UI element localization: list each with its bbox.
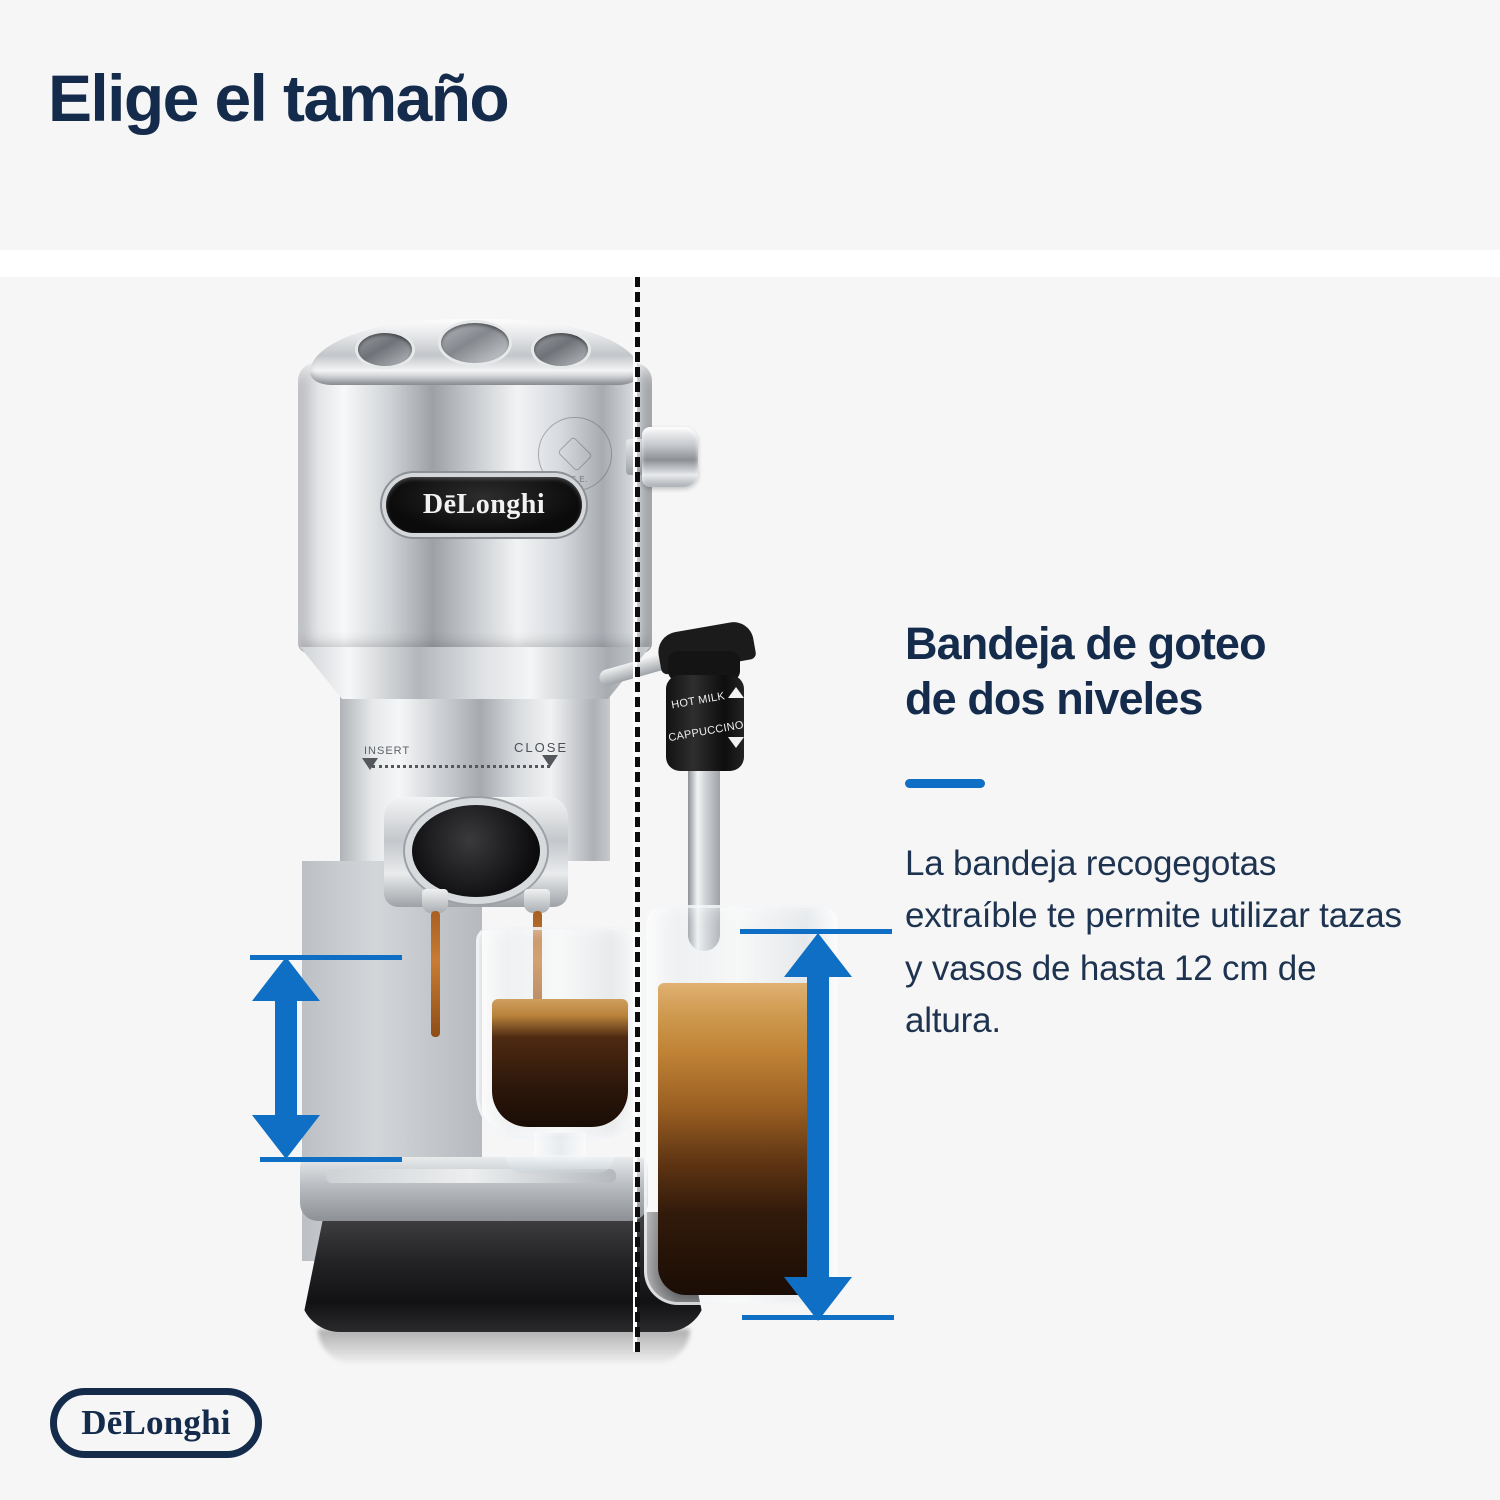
power-button[interactable] [358,333,412,366]
espresso-spout-right [524,889,550,913]
infographic-page: Elige el tamaño DēLonghi E.S.E. [0,0,1500,1500]
measure-left-arrow-down-icon [252,1115,320,1159]
feature-heading: Bandeja de goteo de dos niveles [905,617,1295,727]
feature-body-text: La bandeja recogegotas extraíble te perm… [905,838,1415,1048]
brand-badge: DēLonghi [386,477,582,533]
delonghi-logo-text: DēLonghi [81,1403,230,1443]
steam-control-knob[interactable] [642,427,698,487]
brew-button[interactable] [534,333,588,366]
portafilter-track [372,765,550,768]
main-stage: DēLonghi E.S.E. INSERT CLOSE [0,277,1500,1500]
header-divider [0,250,1500,277]
measure-right-arrow-up-icon [784,933,852,977]
portafilter-close-label: CLOSE [514,740,568,755]
page-title: Elige el tamaño [48,62,508,135]
espresso-spout-left [422,889,448,913]
feature-text-column: Bandeja de goteo de dos niveles La bande… [905,617,1425,1048]
measure-right-shaft [807,951,829,1301]
measure-left-arrow-up-icon [252,957,320,1001]
header: Elige el tamaño [0,0,1500,250]
ese-inner-shape [557,436,592,471]
portafilter-face [412,805,540,897]
espresso-cup-foot [506,1155,614,1173]
product-photo: DēLonghi E.S.E. INSERT CLOSE [150,277,870,1377]
brand-badge-text: DēLonghi [423,489,545,521]
close-triangle-icon [542,755,558,767]
measure-right-arrow-down-icon [784,1277,852,1321]
feature-divider [905,779,985,788]
delonghi-logo: DēLonghi [50,1388,262,1458]
espresso-cup-small [476,927,644,1175]
espresso-cup-contents [492,999,628,1127]
tall-glass-contents [658,983,826,1295]
arrow-up-icon [728,687,744,698]
mode-selector-dial[interactable] [441,323,509,363]
portafilter-insert-label: INSERT [364,745,410,757]
arrow-down-icon [728,737,744,748]
insert-triangle-icon [362,758,378,770]
machine-shoulder [300,647,650,699]
comparison-split-line [635,277,640,1352]
espresso-stream-left [431,911,440,1037]
